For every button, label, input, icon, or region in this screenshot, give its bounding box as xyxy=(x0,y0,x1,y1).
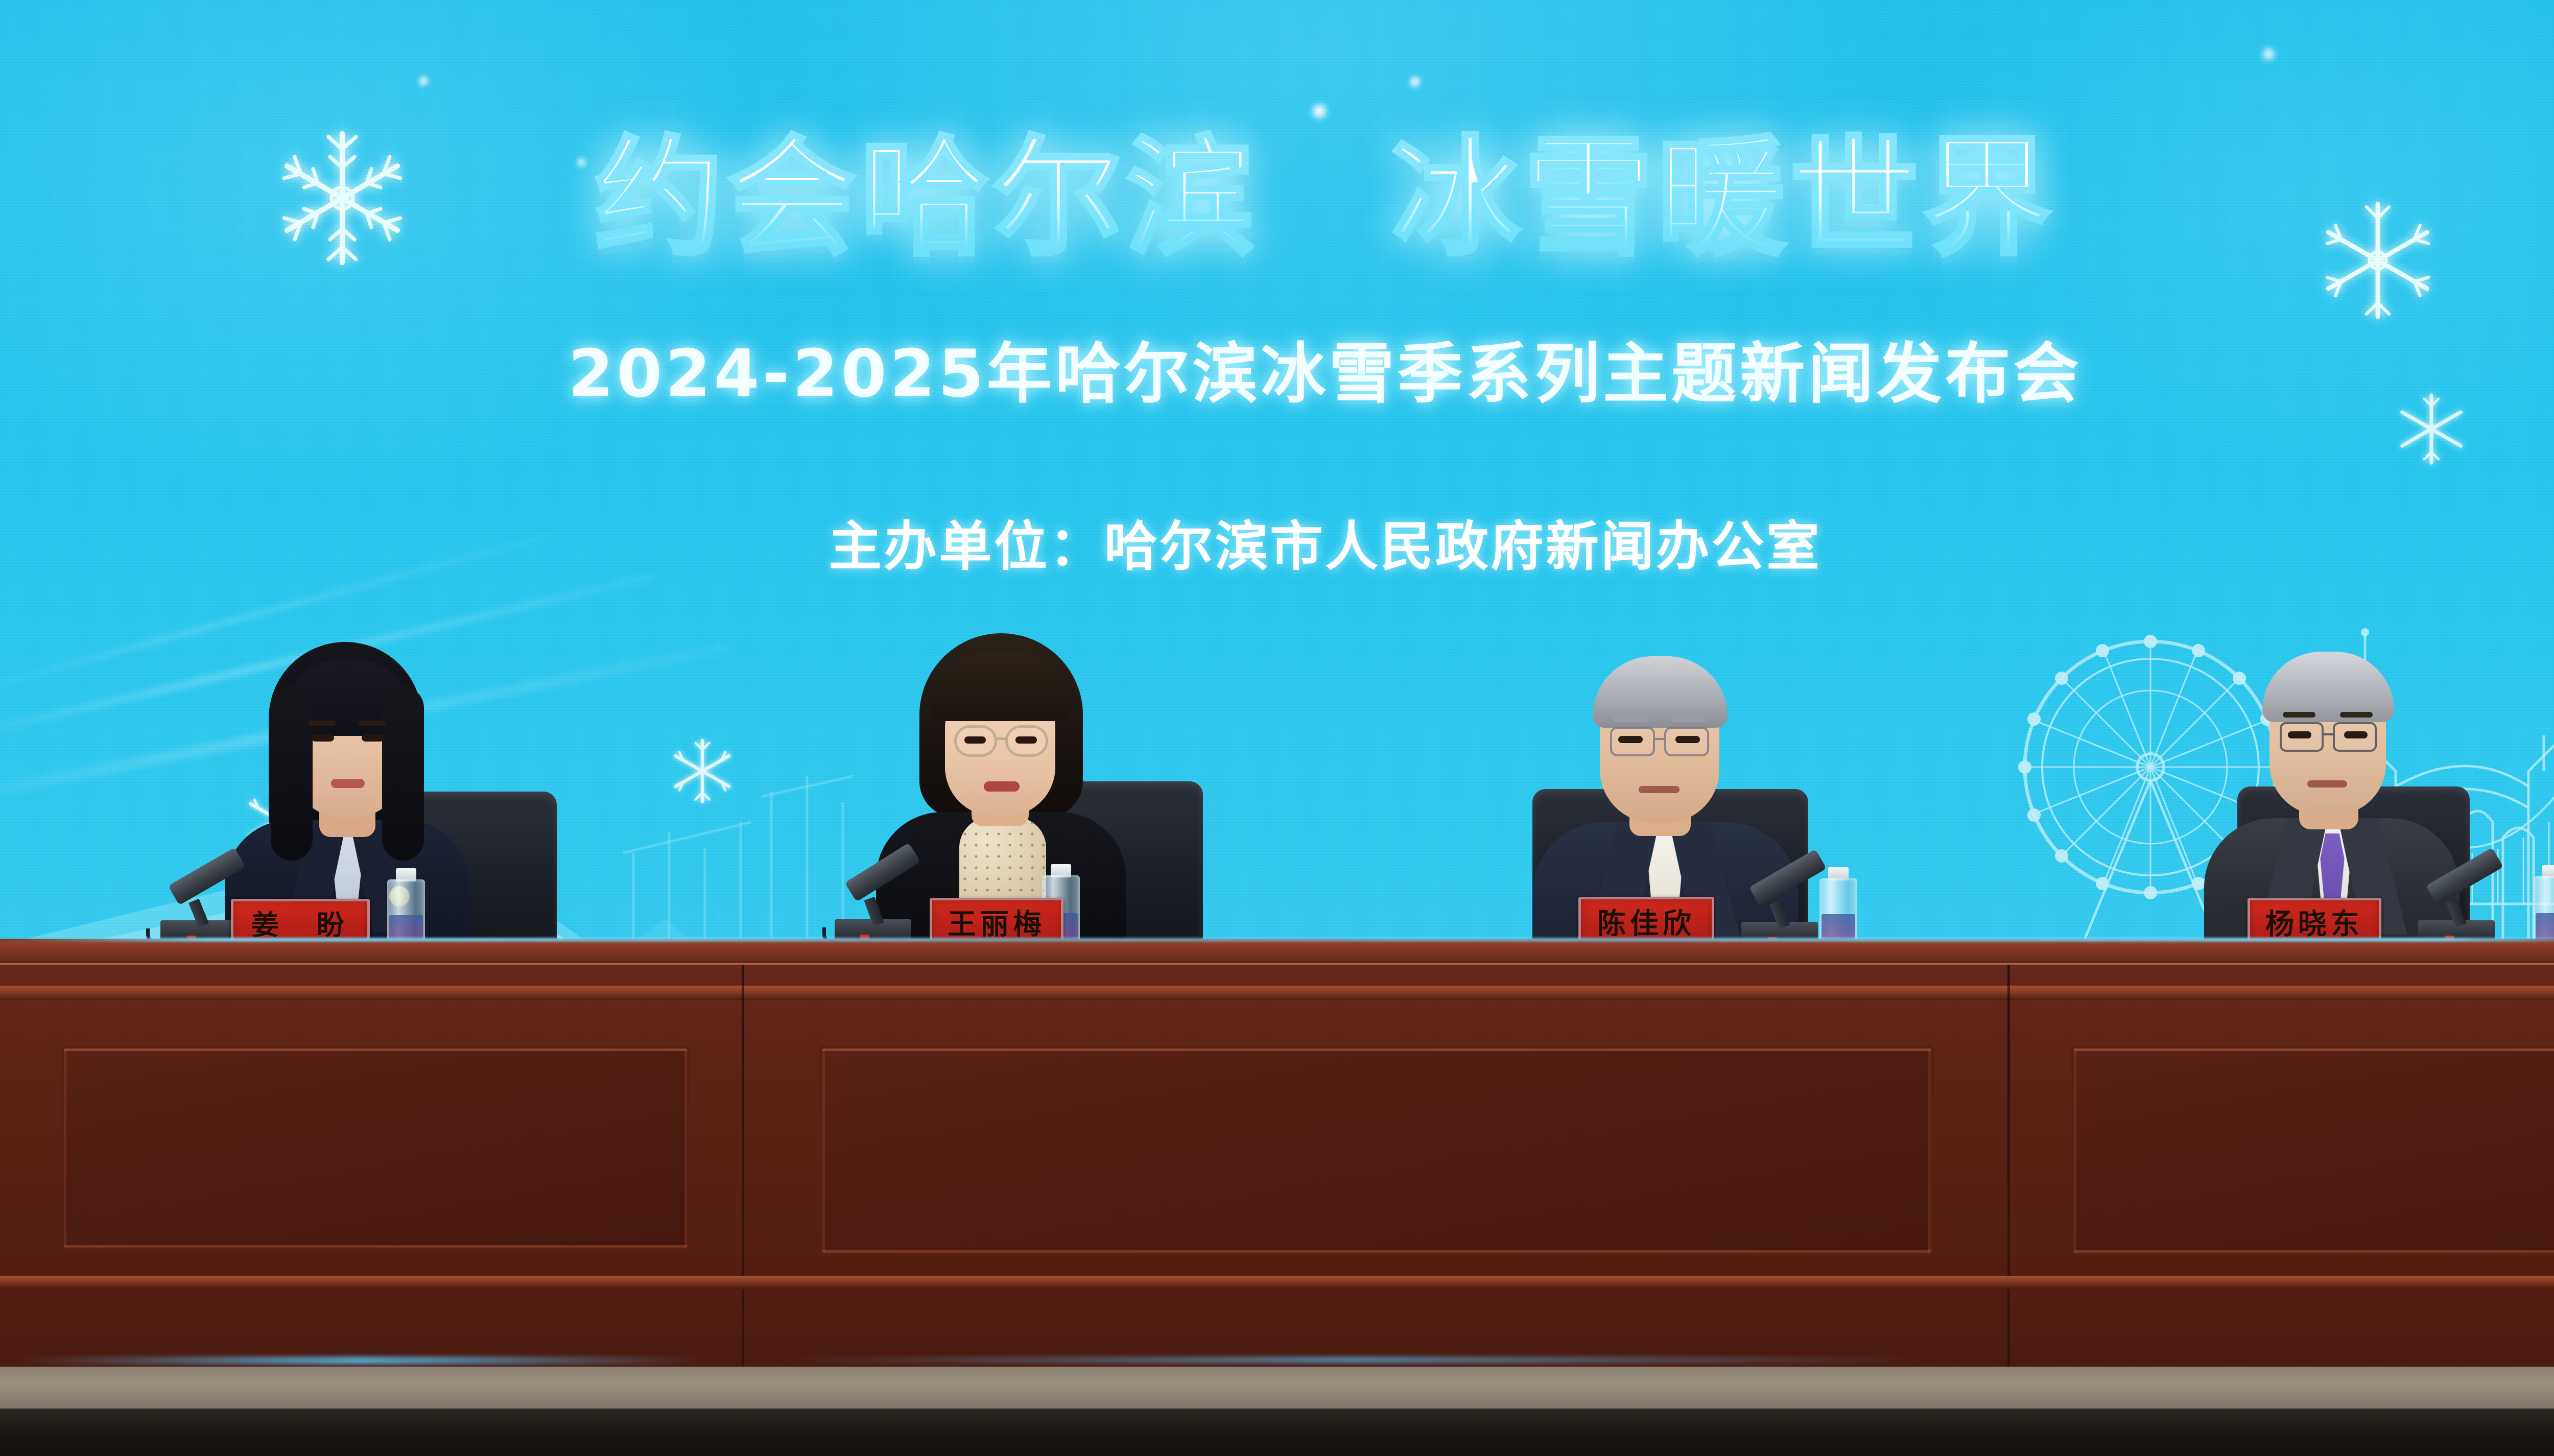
eyebrow-right xyxy=(1671,717,1705,722)
desk-seam xyxy=(742,965,744,1367)
desk-panel xyxy=(2074,1048,2554,1253)
bottle-label xyxy=(389,915,423,941)
stage-led-strip xyxy=(0,938,2554,942)
glasses-bridge xyxy=(2324,733,2333,735)
eyebrow-right xyxy=(2340,712,2373,718)
conference-desk xyxy=(0,939,2554,1456)
nameplate-label: 杨晓东 xyxy=(2265,901,2363,943)
led-spill-right xyxy=(776,1356,1926,1364)
nameplate-label: 姜 盼 xyxy=(251,902,349,943)
eye-right xyxy=(362,734,384,742)
eyebrow-left xyxy=(1613,717,1647,722)
hair-side-left xyxy=(271,687,313,861)
desk-seam xyxy=(2007,965,2010,1367)
desk-upper-rail xyxy=(0,986,2554,1000)
stage-floor xyxy=(0,1409,2554,1456)
desk-panel xyxy=(822,1048,1931,1253)
eye-left xyxy=(964,736,986,744)
eyebrow-left xyxy=(2283,712,2315,718)
eye-left xyxy=(312,734,334,742)
eye-left xyxy=(2288,731,2311,738)
microphone xyxy=(827,858,945,950)
eye-right xyxy=(1015,736,1037,744)
desk-plinth xyxy=(0,1367,2554,1413)
eyebrow-right xyxy=(359,721,386,726)
nameplate-label: 王丽梅 xyxy=(948,901,1046,943)
mouth xyxy=(2307,780,2347,787)
eye-right xyxy=(1675,736,1700,743)
hair xyxy=(1593,656,1728,728)
nameplate-label: 陈佳欣 xyxy=(1597,901,1695,942)
bottle-label xyxy=(2536,913,2554,940)
led-spill-left xyxy=(15,1356,705,1365)
eyebrow-left xyxy=(309,721,336,726)
mouth xyxy=(984,781,1020,792)
eye-left xyxy=(1618,736,1643,743)
mouth xyxy=(331,779,365,788)
main-title: 约会哈尔滨 冰雪暖世界 xyxy=(595,130,2055,267)
organizer-line: 主办单位：哈尔滨市人民政府新闻办公室 xyxy=(0,503,2554,580)
glasses-bridge xyxy=(996,737,1007,740)
hair-side-right xyxy=(382,687,424,861)
glasses-bridge xyxy=(1655,738,1664,740)
eye-right xyxy=(2344,731,2368,738)
sub-title: 2024-2025年哈尔滨冰雪季系列主题新闻发布会 xyxy=(0,321,2554,415)
mouth xyxy=(1639,786,1680,793)
hair xyxy=(2262,652,2394,722)
desk-panel xyxy=(64,1048,687,1248)
desk-lower-rail xyxy=(0,1276,2554,1289)
press-conference-scene: 约会哈尔滨 冰雪暖世界 约会哈尔滨 冰雪暖世界 2024-2025年哈尔滨冰雪季… xyxy=(0,0,2554,1456)
bottle-label xyxy=(1822,914,1855,940)
backdrop-title-block: 约会哈尔滨 冰雪暖世界 约会哈尔滨 冰雪暖世界 xyxy=(0,130,2554,267)
